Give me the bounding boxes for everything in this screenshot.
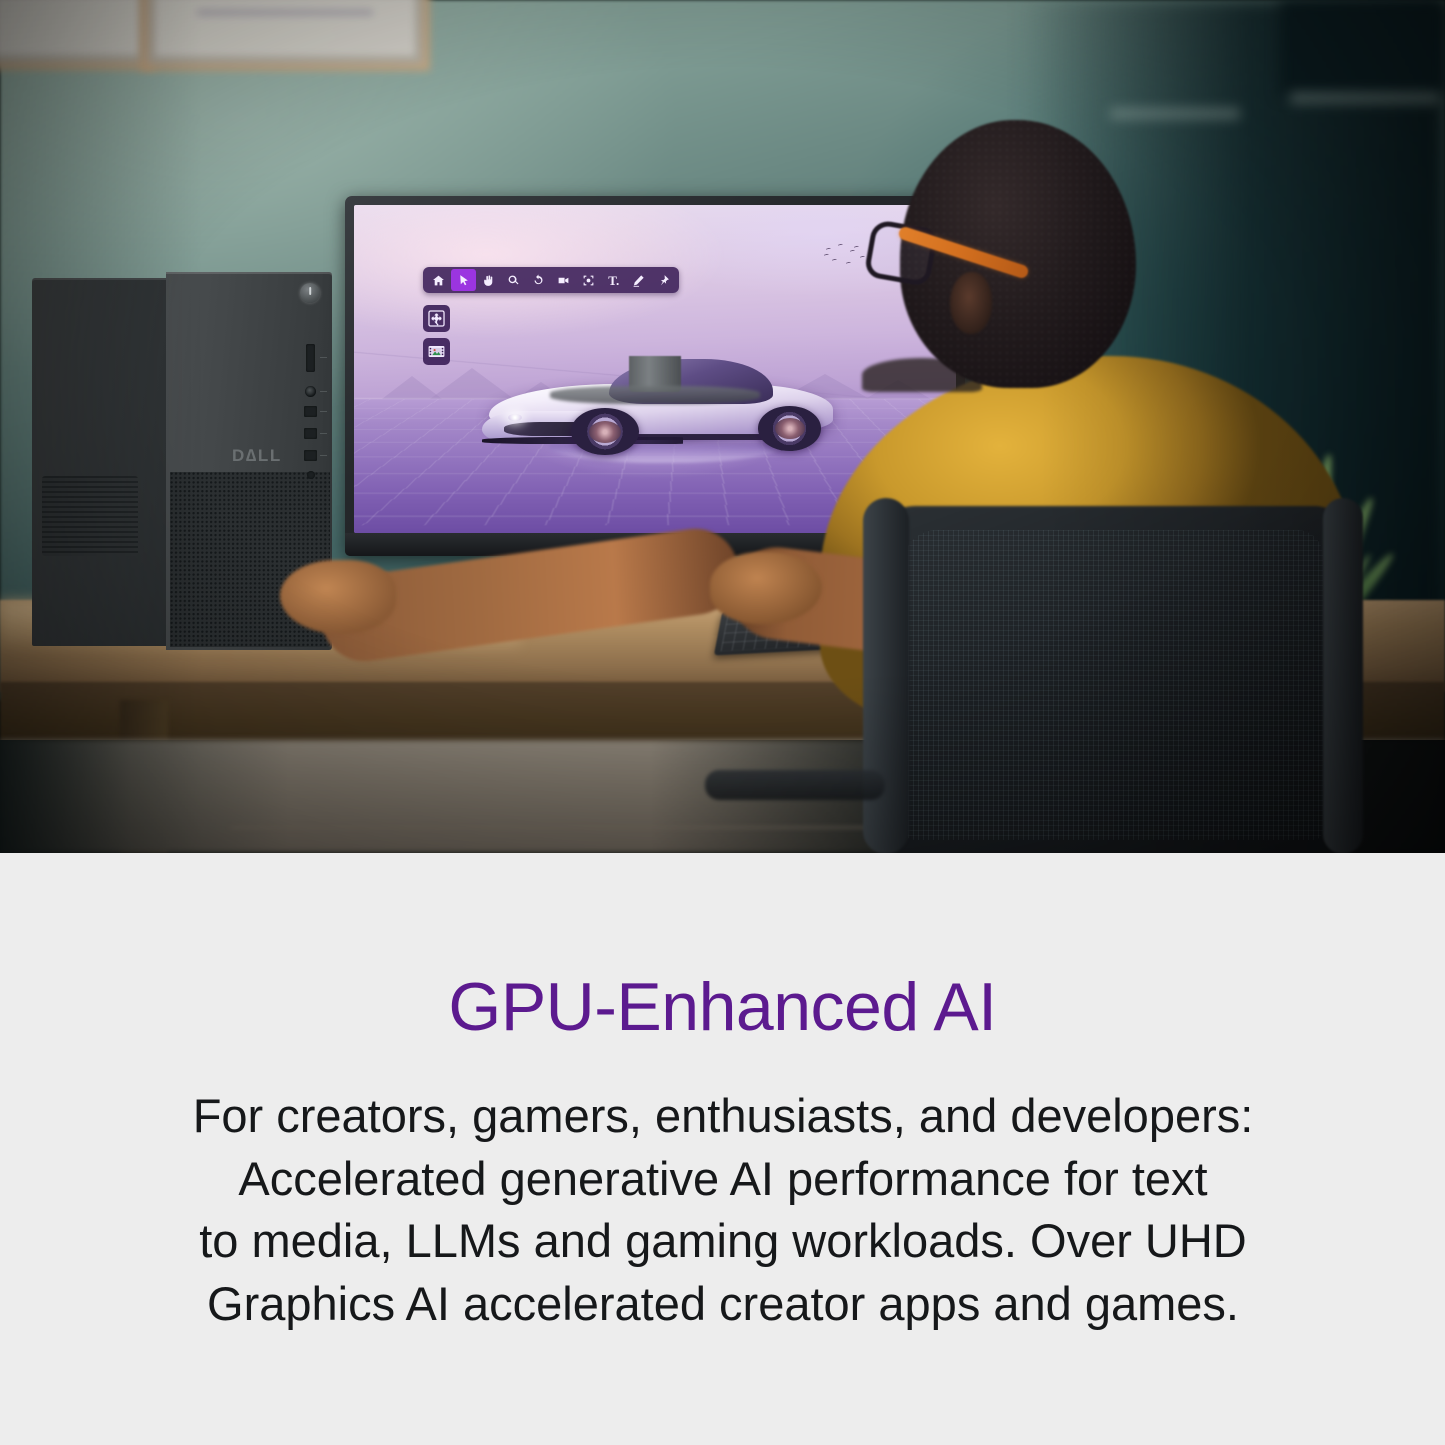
tower-side-panel <box>32 278 166 646</box>
wheel-hub <box>775 418 805 439</box>
pen-icon[interactable] <box>626 269 651 291</box>
dell-logo: D∆LL <box>232 446 282 466</box>
tower-side-vent <box>42 476 138 556</box>
text-panel: GPU-Enhanced AI For creators, gamers, en… <box>0 853 1445 1445</box>
text-icon-glyph: T. <box>608 274 619 287</box>
car-headlight <box>508 414 522 421</box>
search-icon[interactable] <box>501 269 526 291</box>
chair-armrest <box>705 770 885 800</box>
move-gizmo-icon[interactable] <box>423 305 450 332</box>
hero-photo: D∆LL <box>0 0 1445 853</box>
body-line: For creators, gamers, enthusiasts, and d… <box>88 1085 1358 1148</box>
bird-silhouette <box>831 259 836 262</box>
wall-picture-frame <box>140 0 430 71</box>
target-icon[interactable] <box>576 269 601 291</box>
headphone-jack <box>305 386 316 397</box>
port-label-line <box>320 391 327 392</box>
text-icon[interactable]: T. <box>601 269 626 291</box>
frame-mat <box>0 0 140 55</box>
bird-silhouette <box>823 254 828 257</box>
power-button-icon[interactable] <box>300 283 320 303</box>
body-line: Accelerated generative AI performance fo… <box>88 1148 1358 1211</box>
usb-port <box>304 428 317 439</box>
usb-c-port <box>307 471 315 479</box>
office-chair <box>855 480 1395 853</box>
pin-icon[interactable] <box>651 269 676 291</box>
hand-icon[interactable] <box>476 269 501 291</box>
monitor-stand-base <box>550 386 760 404</box>
port-label-line <box>320 455 327 456</box>
usb-port <box>304 450 317 461</box>
car-rear-wheel <box>758 406 821 451</box>
person-head <box>900 120 1136 388</box>
port-label-line <box>320 433 327 434</box>
rotate-icon[interactable] <box>526 269 551 291</box>
wheel-hub <box>589 421 621 443</box>
body-line: Graphics AI accelerated creator apps and… <box>88 1273 1358 1336</box>
wall-picture-frame <box>0 0 155 70</box>
app-side-tools <box>423 305 450 365</box>
hair-texture <box>900 120 1136 388</box>
port-label-line <box>320 411 327 412</box>
chair-frame <box>1323 498 1363 853</box>
usb-port <box>304 406 317 417</box>
person-ear <box>950 272 992 334</box>
car-side-sill <box>624 434 773 440</box>
background-panel <box>1280 0 1445 96</box>
person-left-hand <box>280 560 396 634</box>
film-strip-icon[interactable] <box>423 338 450 365</box>
person-right-hand <box>710 552 822 624</box>
body-copy: For creators, gamers, enthusiasts, and d… <box>88 1085 1358 1335</box>
bird-silhouette <box>825 248 830 251</box>
wall-shelf <box>1290 92 1440 104</box>
car-front-wheel <box>571 408 638 455</box>
chair-mesh <box>903 530 1323 840</box>
body-line: to media, LLMs and gaming workloads. Ove… <box>88 1210 1358 1273</box>
pointer-icon[interactable] <box>451 269 476 291</box>
home-icon[interactable] <box>426 269 451 291</box>
app-toolbar: T. <box>423 267 679 293</box>
frame-mat <box>155 0 415 56</box>
frame-artwork <box>197 9 374 16</box>
camera-icon[interactable] <box>551 269 576 291</box>
sd-card-slot <box>306 344 315 372</box>
page-title: GPU-Enhanced AI <box>0 968 1445 1046</box>
marketing-image: D∆LL <box>0 0 1445 1445</box>
port-label-line <box>320 357 327 358</box>
